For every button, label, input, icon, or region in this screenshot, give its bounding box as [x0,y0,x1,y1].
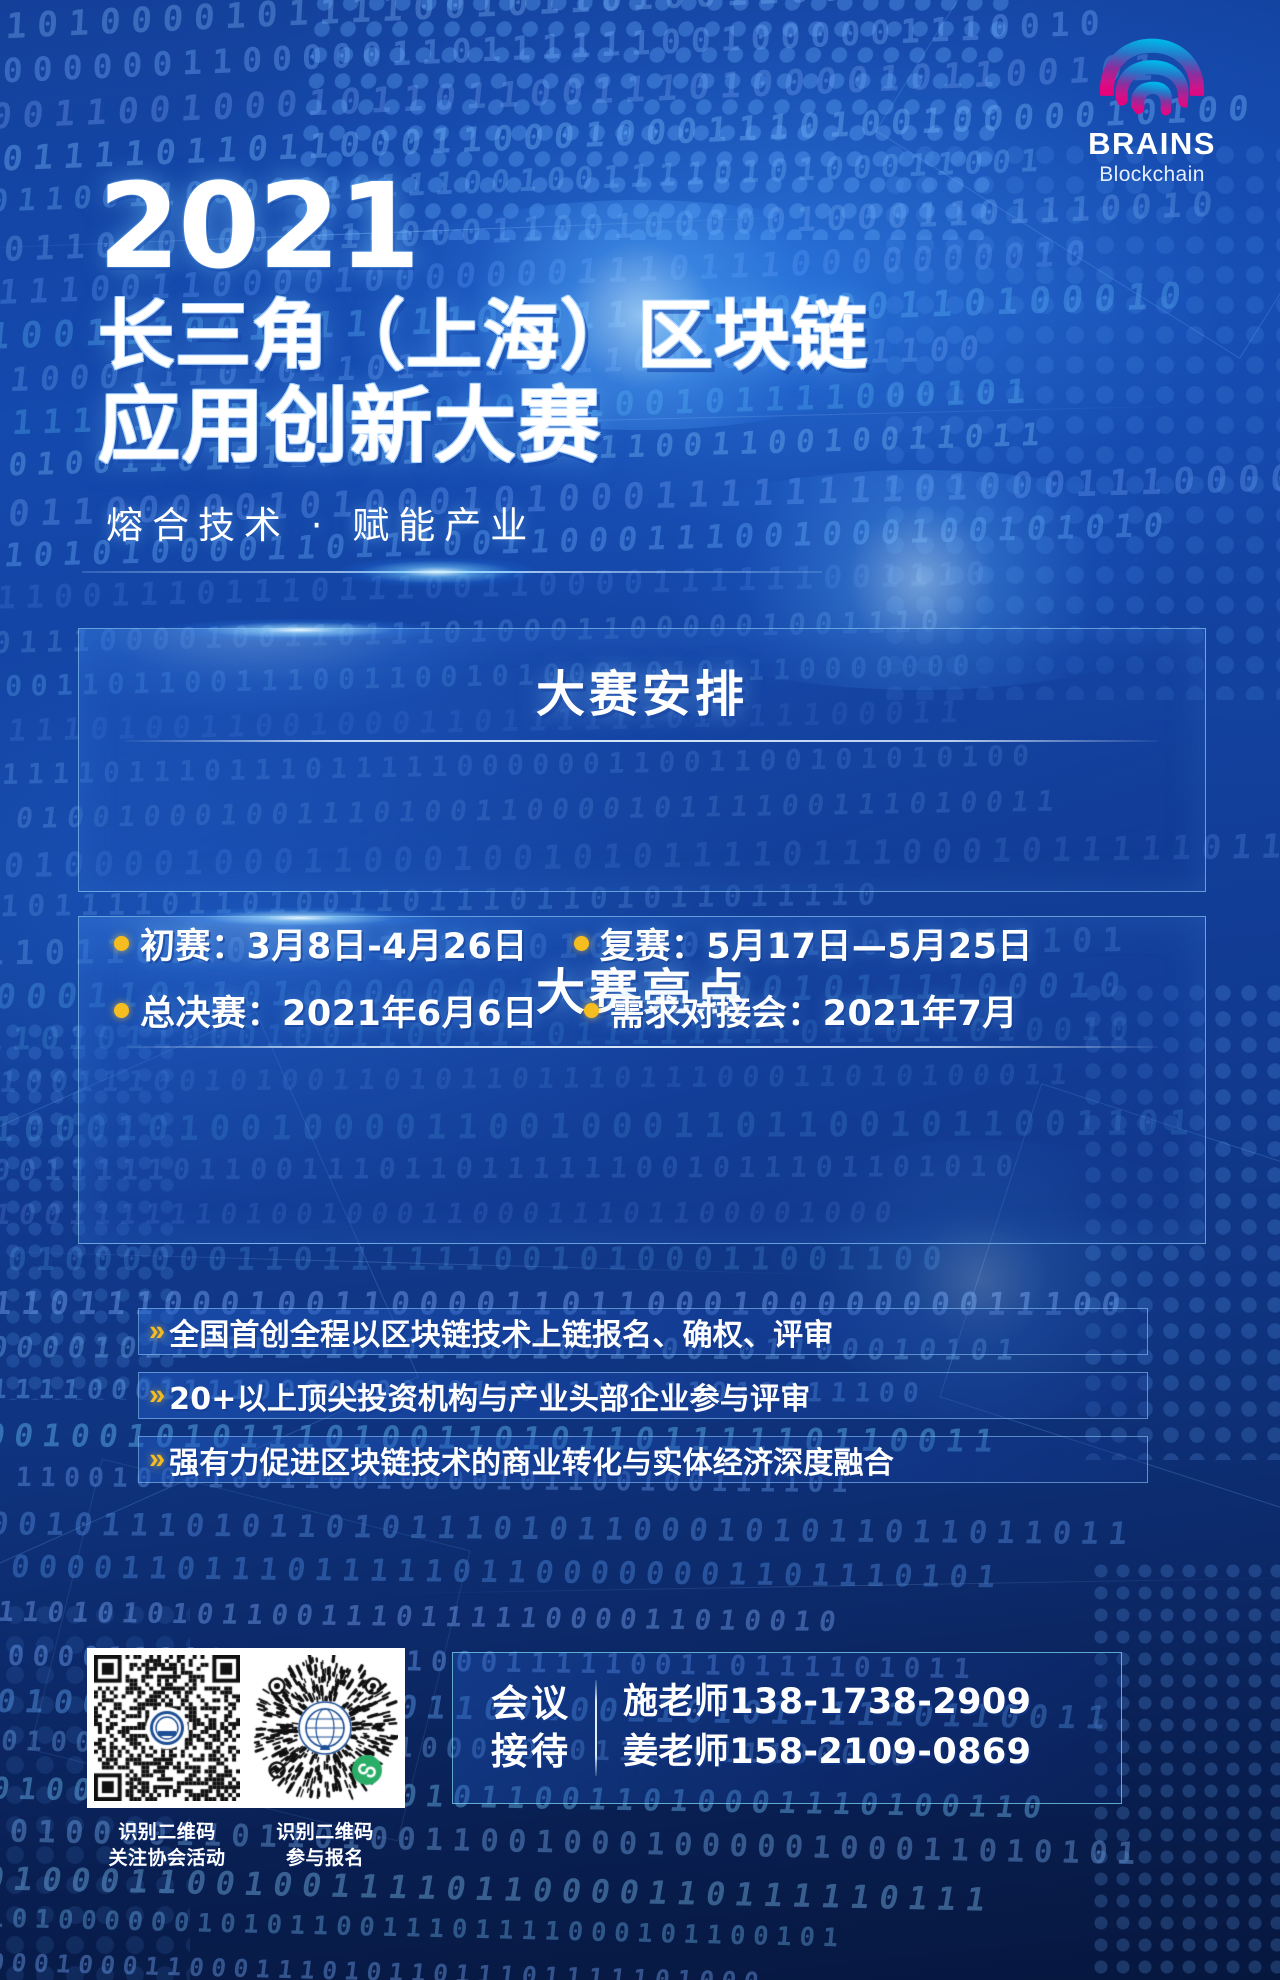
poster-title-line1: 长三角（上海）区块链 [98,293,1098,378]
binary-row: 0001101010101100111011111000011010010 [0,1594,846,1638]
contact-box: 会议 接待 施老师138-1738-2909 姜老师158-2109-0869 [452,1652,1122,1804]
logo-brand-text: BRAINS [1062,128,1242,161]
schedule-row: 初赛：3月8日-4月26日复赛：5月17日—5月25日 [78,918,1206,969]
schedule-item: 复赛：5月17日—5月25日 [574,918,1033,969]
schedule-item: 需求对接会：2021年7月 [584,985,1018,1036]
schedule-bullet-icon [584,1003,599,1018]
schedule-panel: 大赛安排 [78,628,1206,892]
registration-qr-caption-line2: 参与报名 [240,1846,410,1872]
contact-person-1: 施老师138-1738-2909 [623,1678,1031,1728]
schedule-bullet-icon [114,1003,129,1018]
schedule-row: 总决赛：2021年6月6日需求对接会：2021年7月 [78,985,1206,1036]
binary-row: 00011001000101101100111010000101100101 [0,47,1167,139]
poster-footer: 识别二维码 关注协会活动 识别二维码 参与报名 会议 接待 施老师138-173… [0,1640,1280,1920]
association-qr-code[interactable] [87,1648,247,1808]
registration-qr-code[interactable] [245,1648,405,1808]
chevron-double-right-icon: » [149,1445,162,1474]
binary-row: 100000001100000110111111001000001110010 [0,3,1110,93]
contact-person-2: 姜老师158-2109-0869 [623,1728,1031,1778]
poster-title-line2: 应用创新大赛 [98,382,1098,472]
poster-root: 0010100001011110010110100110000100011010… [0,0,1280,1980]
schedule-item: 初赛：3月8日-4月26日 [114,918,528,969]
contact-label-line1: 会议 [491,1680,571,1728]
highlight-item-text: 强有力促进区块链技术的商业转化与实体经济深度融合 [169,1438,894,1482]
association-qr-canvas [94,1655,240,1801]
highlight-item: »全国首创全程以区块链技术上链报名、确权、评审 [138,1308,1148,1355]
binary-row: 000011011101111101100000001101110101 [9,1550,1007,1595]
binary-row: 01000010001100011101011011101111101000 [0,1946,767,1980]
schedule-bullet-icon [114,936,129,951]
binary-row: 1010000001101111110010100011001100 [0,1241,952,1278]
chevron-double-right-icon: » [149,1317,162,1346]
qr-block-registration: 识别二维码 参与报名 [240,1648,410,1871]
brains-blockchain-logo: BRAINS Blockchain [1062,34,1242,187]
schedule-item-text: 需求对接会：2021年7月 [610,985,1018,1036]
registration-qr-canvas [252,1655,398,1801]
highlight-item-text: 20+以上顶尖投资机构与产业头部企业参与评审 [169,1374,810,1418]
highlight-item: »强有力促进区块链技术的商业转化与实体经济深度融合 [138,1436,1148,1483]
association-qr-caption-line1: 识别二维码 [82,1820,252,1846]
schedule-item-text: 初赛：3月8日-4月26日 [140,918,528,969]
poster-slogan: 熔合技术 · 赋能产业 [98,495,1098,549]
registration-qr-caption: 识别二维码 参与报名 [240,1820,410,1871]
brain-outline-icon [1092,34,1212,120]
registration-qr-caption-line1: 识别二维码 [240,1820,410,1846]
deco-streak-4 [380,1577,1280,1595]
highlights-list: »全国首创全程以区块链技术上链报名、确权、评审»20+以上顶尖投资机构与产业头部… [138,1308,1148,1500]
association-qr-caption-line2: 关注协会活动 [82,1846,252,1872]
schedule-heading-divider [126,740,1158,742]
contact-lines: 施老师138-1738-2909 姜老师158-2109-0869 [623,1678,1031,1777]
qr-block-association: 识别二维码 关注协会活动 [82,1648,252,1871]
schedule-item-text: 总决赛：2021年6月6日 [140,985,538,1036]
binary-row: 0001011101011010111010110001010110110110… [0,1506,1138,1552]
highlight-item: »20+以上顶尖投资机构与产业头部企业参与评审 [138,1372,1148,1419]
schedule-item: 总决赛：2021年6月6日 [114,985,538,1036]
schedule-heading: 大赛安排 [79,655,1205,726]
slogan-divider [82,571,822,573]
contact-label: 会议 接待 [491,1680,571,1776]
contact-divider [595,1680,597,1776]
schedule-item-text: 复赛：5月17日—5月25日 [600,918,1033,969]
association-qr-caption: 识别二维码 关注协会活动 [82,1820,252,1871]
schedule-bullet-icon [574,936,589,951]
poster-year: 2021 [98,170,1098,283]
highlight-item-text: 全国首创全程以区块链技术上链报名、确权、评审 [169,1310,833,1354]
chevron-double-right-icon: » [149,1381,162,1410]
deco-streak-3 [0,1249,840,1275]
contact-label-line2: 接待 [491,1728,571,1776]
title-block: 2021 长三角（上海）区块链 应用创新大赛 熔合技术 · 赋能产业 [98,170,1098,573]
schedule-list: 初赛：3月8日-4月26日复赛：5月17日—5月25日总决赛：2021年6月6日… [78,918,1206,1052]
